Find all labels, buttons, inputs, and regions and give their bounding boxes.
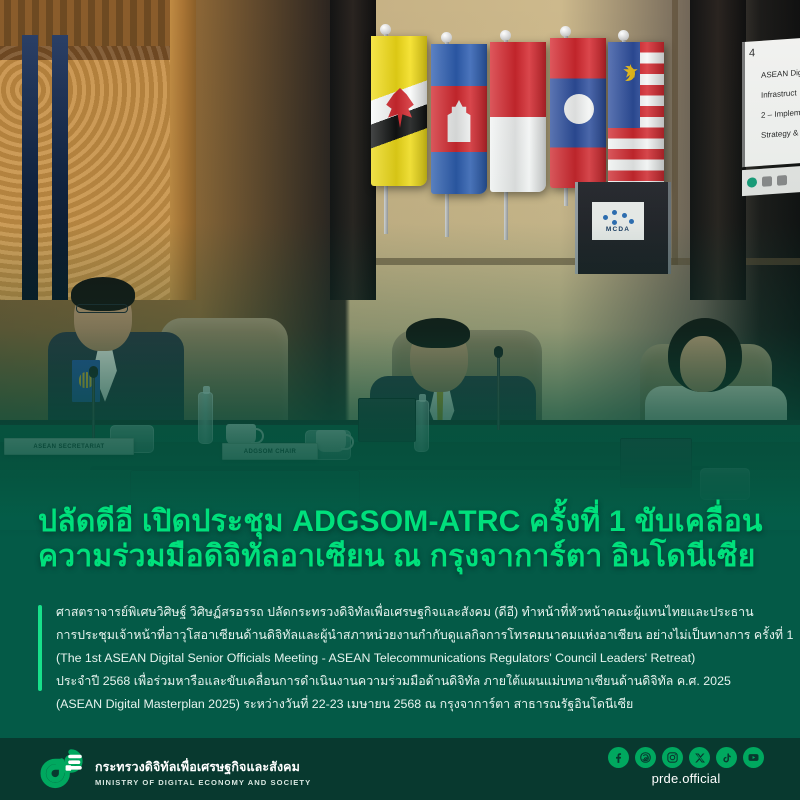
threads-icon[interactable] [635, 747, 656, 768]
page-title: ปลัดดีอี เปิดประชุม ADGSOM-ATRC ครั้งที่… [38, 504, 778, 574]
body-line-1: ศาสตราจารย์พิเศษวิศิษฐ์ วิศิษฏ์สรอรรถ ปล… [56, 601, 782, 624]
body-line-2: การประชุมเจ้าหน้าที่อาวุโสอาเซียนด้านดิจ… [56, 624, 782, 647]
body-line-4: ประจำปี 2568 เพื่อร่วมหารือและขับเคลื่อน… [56, 670, 782, 693]
x-twitter-icon[interactable] [689, 747, 710, 768]
instagram-icon[interactable] [662, 747, 683, 768]
body-line-5: (ASEAN Digital Masterplan 2025) ระหว่างว… [56, 693, 782, 716]
ministry-name-english: MINISTRY OF DIGITAL ECONOMY AND SOCIETY [95, 778, 311, 787]
tiktok-icon[interactable] [716, 747, 737, 768]
text-band: ปลัดดีอี เปิดประชุม ADGSOM-ATRC ครั้งที่… [0, 498, 800, 738]
ministry-name-thai: กระทรวงดิจิทัลเพื่อเศรษฐกิจและสังคม [95, 757, 311, 777]
photo-green-overlay [0, 0, 800, 530]
youtube-icon[interactable] [743, 747, 764, 768]
social-links: prde.official [608, 747, 764, 786]
headline-line-1: ปลัดดีอี เปิดประชุม ADGSOM-ATRC ครั้งที่… [38, 504, 778, 539]
body-copy: ศาสตราจารย์พิเศษวิศิษฐ์ วิศิษฏ์สรอรรถ ปล… [56, 601, 782, 716]
accent-bar [38, 605, 42, 691]
headline-line-2: ความร่วมมือดิจิทัลอาเซียน ณ กรุงจาการ์ตา… [38, 539, 778, 574]
facebook-icon[interactable] [608, 747, 629, 768]
ministry-brand: กระทรวงดิจิทัลเพื่อเศรษฐกิจและสังคม MINI… [40, 748, 311, 792]
social-icon-row [608, 747, 764, 768]
body-line-3: (The 1st ASEAN Digital Senior Officials … [56, 647, 782, 670]
conference-photo: 4 ASEAN Dig Infrastruct 2 – Implem Strat… [0, 0, 800, 530]
social-handle[interactable]: prde.official [608, 771, 764, 786]
de-ministry-logo-icon [40, 748, 86, 792]
body-line-1-text: ศาสตราจารย์พิเศษวิศิษฐ์ วิศิษฏ์สรอรรถ ปล… [56, 601, 754, 624]
social-media-card: 4 ASEAN Dig Infrastruct 2 – Implem Strat… [0, 0, 800, 800]
ministry-brand-text: กระทรวงดิจิทัลเพื่อเศรษฐกิจและสังคม MINI… [95, 754, 311, 787]
footer: กระทรวงดิจิทัลเพื่อเศรษฐกิจและสังคม MINI… [0, 738, 800, 800]
